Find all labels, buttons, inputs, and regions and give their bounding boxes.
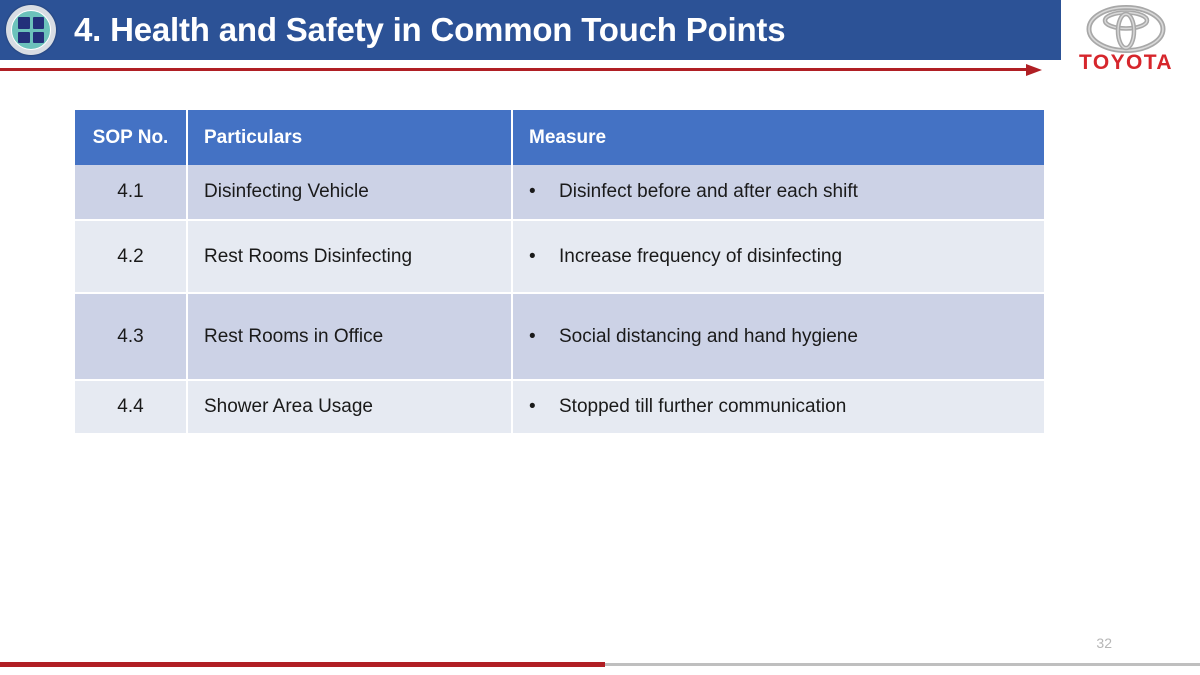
cell-measure: • Social distancing and hand hygiene — [513, 294, 1044, 381]
icon-grid-square-3 — [18, 32, 30, 44]
cell-particulars: Shower Area Usage — [188, 381, 513, 433]
bullet-icon: • — [529, 182, 559, 201]
toyota-wordmark: TOYOTA — [1066, 51, 1186, 75]
icon-grid-square-1 — [18, 17, 30, 29]
bullet-icon: • — [529, 397, 559, 416]
window-grid-icon — [6, 5, 56, 55]
toyota-emblem-icon — [1066, 4, 1186, 54]
column-header-measure: Measure — [513, 110, 1044, 165]
cell-particulars: Disinfecting Vehicle — [188, 165, 513, 221]
sop-table: SOP No. Particulars Measure 4.1 Disinfec… — [75, 110, 1044, 433]
cell-sop-no: 4.2 — [75, 221, 188, 294]
measure-text: Increase frequency of disinfecting — [559, 246, 1028, 268]
measure-text: Stopped till further communication — [559, 396, 1028, 418]
toyota-logo: TOYOTA — [1066, 4, 1186, 80]
table-row: 4.1 Disinfecting Vehicle • Disinfect bef… — [75, 165, 1044, 221]
cell-sop-no: 4.3 — [75, 294, 188, 381]
table-header-row: SOP No. Particulars Measure — [75, 110, 1044, 165]
measure-bullet-item: • Disinfect before and after each shift — [529, 181, 1028, 203]
cell-sop-no: 4.4 — [75, 381, 188, 433]
table-row: 4.3 Rest Rooms in Office • Social distan… — [75, 294, 1044, 381]
measure-bullet-item: • Stopped till further communication — [529, 396, 1028, 418]
table-body: 4.1 Disinfecting Vehicle • Disinfect bef… — [75, 165, 1044, 433]
table-row: 4.4 Shower Area Usage • Stopped till fur… — [75, 381, 1044, 433]
cell-particulars: Rest Rooms in Office — [188, 294, 513, 381]
table-header: SOP No. Particulars Measure — [75, 110, 1044, 165]
column-header-particulars: Particulars — [188, 110, 513, 165]
icon-grid-squares — [18, 17, 44, 43]
page-number: 32 — [1096, 635, 1112, 651]
cell-particulars: Rest Rooms Disinfecting — [188, 221, 513, 294]
footer-rule-grey — [605, 663, 1200, 666]
column-header-sop-no: SOP No. — [75, 110, 188, 165]
arrow-head-icon — [1026, 64, 1042, 76]
bullet-icon: • — [529, 247, 559, 266]
cell-sop-no: 4.1 — [75, 165, 188, 221]
measure-text: Social distancing and hand hygiene — [559, 326, 1028, 348]
cell-measure: • Increase frequency of disinfecting — [513, 221, 1044, 294]
measure-text: Disinfect before and after each shift — [559, 181, 1028, 203]
bullet-icon: • — [529, 327, 559, 346]
arrow-shaft — [0, 68, 1030, 71]
measure-bullet-item: • Social distancing and hand hygiene — [529, 326, 1028, 348]
footer-rule-red — [0, 662, 605, 667]
page-title: 4. Health and Safety in Common Touch Poi… — [74, 0, 785, 60]
cell-measure: • Disinfect before and after each shift — [513, 165, 1044, 221]
measure-bullet-item: • Increase frequency of disinfecting — [529, 246, 1028, 268]
icon-grid-square-4 — [33, 32, 45, 44]
red-arrow-divider — [0, 62, 1048, 78]
cell-measure: • Stopped till further communication — [513, 381, 1044, 433]
icon-grid-square-2 — [33, 17, 45, 29]
table-row: 4.2 Rest Rooms Disinfecting • Increase f… — [75, 221, 1044, 294]
